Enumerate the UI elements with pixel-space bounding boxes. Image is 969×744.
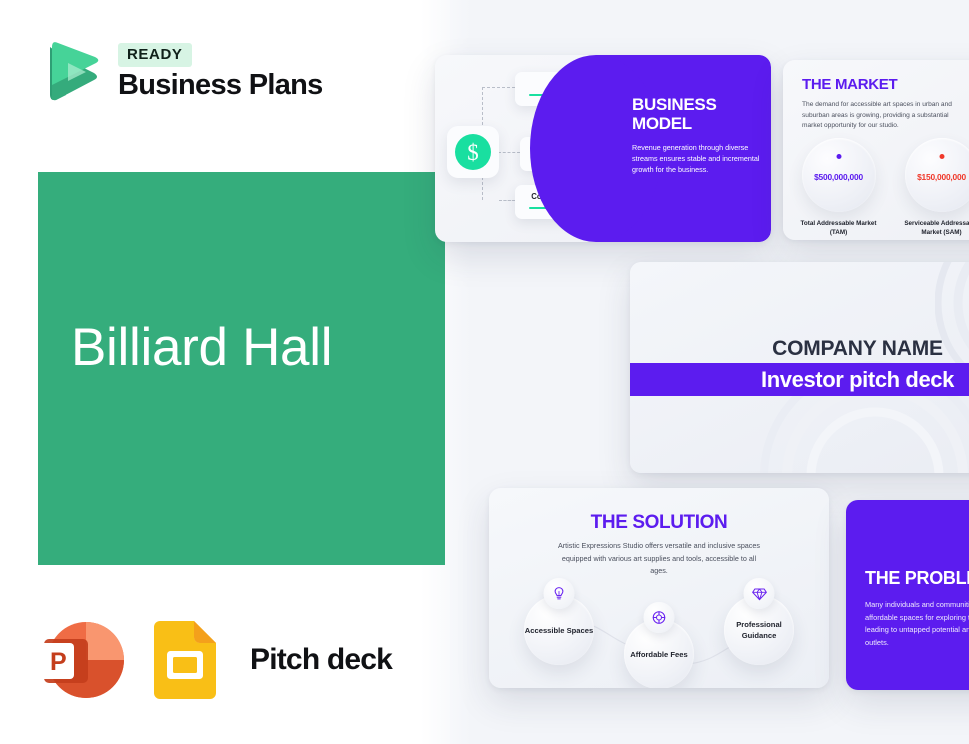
solution-node-professional-guidance[interactable]: Professional Guidance [724,595,794,665]
hero-panel: Billiard Hall [38,172,445,565]
brand-text: READY Business Plans [118,43,323,102]
market-metrics: $500,000,000 Total Addressable Market (T… [795,138,969,237]
market-metric-tam: $500,000,000 Total Addressable Market (T… [795,138,882,237]
powerpoint-icon: P [38,617,124,703]
investor-subtitle: Investor pitch deck [761,367,954,393]
slide-the-solution[interactable]: THE SOLUTION Artistic Expressions Studio… [489,488,829,688]
market-metric-tam-dot [836,154,841,159]
market-header: THE MARKET The demand for accessible art… [802,76,969,132]
market-description: The demand for accessible art spaces in … [802,100,954,132]
investor-subtitle-band: Investor pitch deck [630,363,969,396]
slide-investor-pitch-deck[interactable]: COMPANY NAME Investor pitch deck [630,262,969,473]
connector-to-item-2 [498,152,520,153]
business-model-description: Revenue generation through diverse strea… [632,142,760,175]
solution-node-1-label: Accessible Spaces [525,625,593,636]
market-metric-sam-dot [939,154,944,159]
solution-title: THE SOLUTION [489,512,829,534]
diamond-icon [751,586,767,602]
slide-the-problem[interactable]: THE PROBLEM Many individuals and communi… [846,500,969,690]
business-model-text: BUSINESS MODEL Revenue generation throug… [632,95,760,176]
google-slides-icon [154,621,216,699]
slide-business-model[interactable]: $ Drop-in Fees Session Workshops Commiss… [435,55,771,242]
connector-to-item-1 [482,87,515,88]
business-model-icon-card: $ [447,126,499,178]
solution-node-affordable-fees[interactable]: Affordable Fees [624,619,694,688]
market-title: THE MARKET [802,76,969,93]
target-icon [652,610,667,625]
market-metric-sam-value: $150,000,000 [905,172,969,182]
market-metric-tam-caption: Total Addressable Market (TAM) [795,219,882,237]
market-metric-sam-caption: Serviceable Addressable Market (SAM) [898,219,969,237]
problem-description: Many individuals and communities lack ac… [865,599,969,650]
page-title: Billiard Hall [71,321,332,374]
problem-title: THE PROBLEM [865,568,969,589]
footer-bar: P Pitch deck [38,617,392,703]
market-metric-tam-value: $500,000,000 [802,172,876,182]
business-model-title: BUSINESS MODEL [632,95,760,133]
svg-text:P: P [50,648,67,676]
solution-node-accessible-spaces[interactable]: Accessible Spaces [524,595,594,665]
footer-label: Pitch deck [250,643,392,677]
market-metric-sam-disc: $150,000,000 [905,138,969,212]
play-triangle-logo-icon [38,37,102,107]
business-model-purple-block: BUSINESS MODEL Revenue generation throug… [596,55,771,242]
connector-h-3 [499,200,515,201]
solution-node-3-badge [744,578,775,609]
lightbulb-icon [552,586,567,601]
solution-node-2-label: Affordable Fees [630,649,687,660]
ready-badge: READY [118,43,192,67]
solution-node-2-badge [644,602,675,633]
poster-canvas: Billiard Hall READY Business Plans $ Dro… [0,0,969,744]
solution-description: Artistic Expressions Studio offers versa… [555,540,763,578]
market-metric-sam: $150,000,000 Serviceable Addressable Mar… [898,138,969,237]
brand-header: READY Business Plans [38,37,323,107]
slide-the-market[interactable]: THE MARKET The demand for accessible art… [783,60,969,240]
brand-name: Business Plans [118,69,323,102]
market-metric-tam-disc: $500,000,000 [802,138,876,212]
investor-company-name: COMPANY NAME [630,337,969,361]
solution-node-3-label: Professional Guidance [724,619,794,641]
dollar-sign-icon: $ [455,134,491,170]
solution-node-1-badge [544,578,575,609]
